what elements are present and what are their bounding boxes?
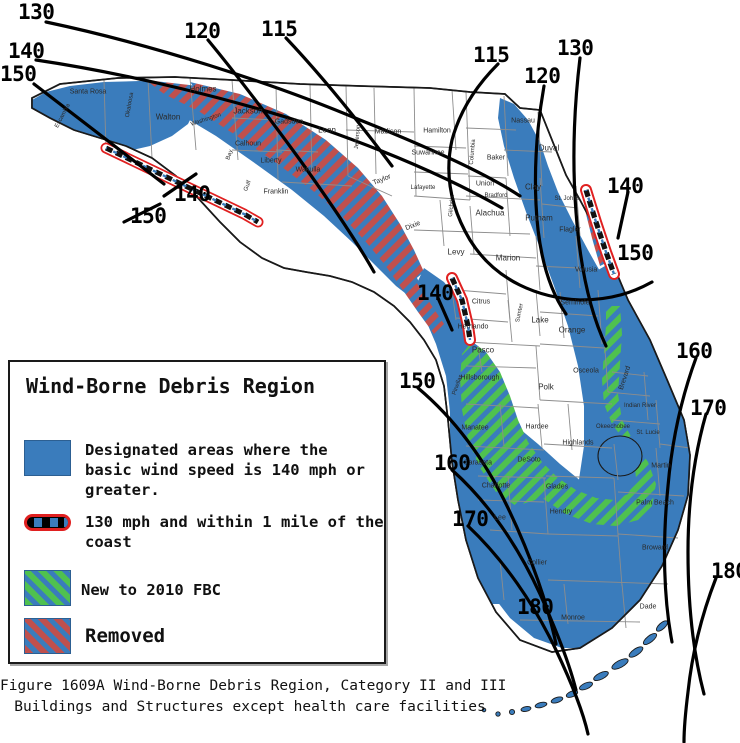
wind-speed-label: 160 [434,453,470,474]
wind-speed-label: 160 [676,341,712,362]
wind-speed-label: 150 [399,371,435,392]
wind-speed-label: 180 [711,561,740,582]
wind-speed-label: 150 [130,206,166,227]
wind-speed-label: 130 [557,38,593,59]
wind-speed-label: 120 [524,66,560,87]
wind-speed-label: 140 [417,283,453,304]
coast-dash-swatch-icon [24,514,71,531]
blue-fill-swatch-icon [24,440,71,476]
legend-item-new: New to 2010 FBC [24,570,221,606]
legend-item-designated: Designated areas where the basic wind sp… [24,440,375,500]
caption-line-1: Figure 1609A Wind-Borne Debris Region, C… [0,676,500,697]
wind-speed-label: 150 [617,243,653,264]
wind-speed-label: 180 [517,597,553,618]
wind-speed-label: 115 [261,19,297,40]
green-hatch-swatch-icon [24,570,71,606]
wind-speed-label: 170 [452,509,488,530]
legend-item-removed: Removed [24,618,165,654]
wind-speed-label: 140 [607,176,643,197]
wind-speed-label: 120 [184,21,220,42]
legend-item-new-label: New to 2010 FBC [81,580,221,600]
wind-speed-label: 140 [8,41,44,62]
figure-caption: Figure 1609A Wind-Borne Debris Region, C… [0,676,500,718]
wind-speed-label: 130 [18,2,54,23]
legend-item-coast: 130 mph and within 1 mile of the coast [24,514,385,552]
wind-speed-label: 115 [473,45,509,66]
wind-speed-label: 150 [0,64,36,85]
caption-line-2: Buildings and Structures except health c… [0,697,500,718]
legend-item-designated-label: Designated areas where the basic wind sp… [85,440,375,500]
wind-speed-label: 170 [690,398,726,419]
legend-item-removed-label: Removed [85,624,165,649]
wind-speed-label: 140 [174,184,210,205]
legend-panel: Wind-Borne Debris Region Designated area… [8,360,386,664]
legend-item-coast-label: 130 mph and within 1 mile of the coast [85,512,385,552]
red-hatch-swatch-icon [24,618,71,654]
legend-title: Wind-Borne Debris Region [26,374,315,398]
wind-borne-debris-map: Santa RosaEscambiaOkaloosaWaltonHolmesWa… [0,0,740,743]
